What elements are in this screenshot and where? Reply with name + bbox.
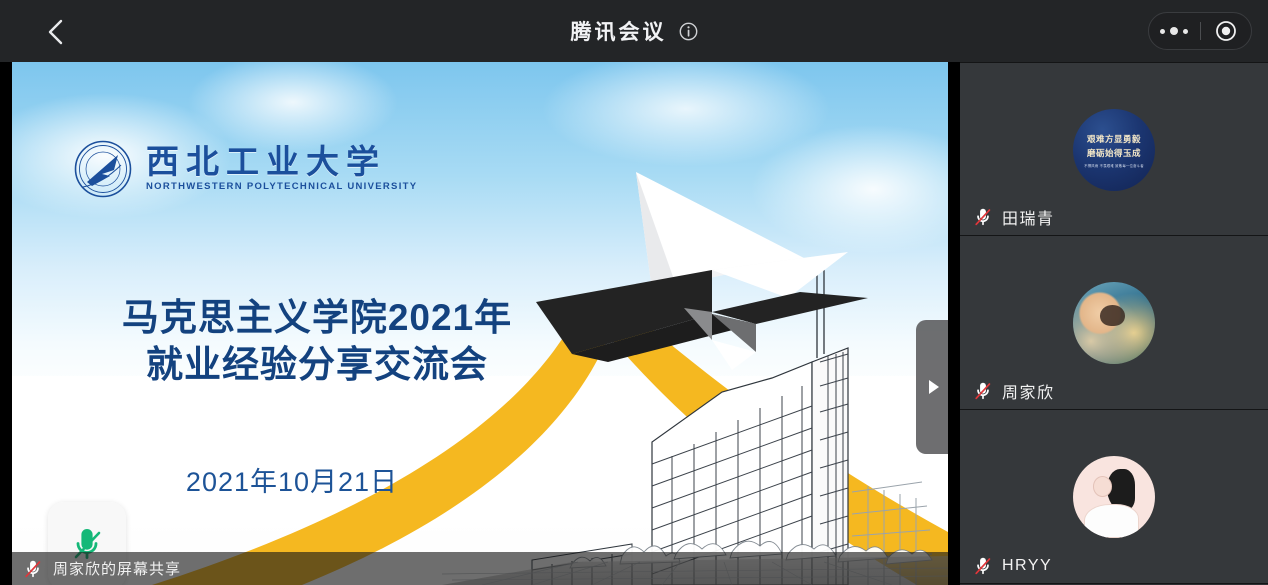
chevron-left-icon: [45, 17, 67, 47]
slide-title: 马克思主义学院2021年 就业经验分享交流会: [82, 294, 552, 389]
participant-footer: 周家欣: [960, 379, 1268, 403]
participant-tile[interactable]: HRYY: [960, 410, 1268, 584]
target-circle-icon: [1215, 20, 1237, 42]
participant-name: 田瑞青: [1002, 205, 1055, 229]
illustration-body: [1084, 504, 1138, 538]
illustration-head: [1093, 476, 1113, 497]
avatar-slogan-caption: 不惧风雨 不畏艰难 致敬每一位奋斗者: [1084, 163, 1144, 168]
presentation-slide: 西北工业大学 NORTHWESTERN POLYTECHNICAL UNIVER…: [12, 62, 948, 585]
participant-tile[interactable]: 艰难方显勇毅 磨砺始得玉成 不惧风雨 不畏艰难 致敬每一位奋斗者 田瑞青: [960, 62, 1268, 236]
participant-footer: 田瑞青: [960, 205, 1268, 229]
shared-screen-stage[interactable]: 西北工业大学 NORTHWESTERN POLYTECHNICAL UNIVER…: [0, 62, 960, 585]
screen-share-status-bar: 周家欣的屏幕共享: [12, 552, 948, 585]
avatar: [1073, 456, 1155, 538]
participant-rail[interactable]: 艰难方显勇毅 磨砺始得玉成 不惧风雨 不畏艰难 致敬每一位奋斗者 田瑞青: [960, 62, 1268, 585]
more-menu-button[interactable]: [1149, 27, 1200, 35]
avatar-slogan-badge: 艰难方显勇毅 磨砺始得玉成 不惧风雨 不畏艰难 致敬每一位奋斗者: [1073, 109, 1155, 191]
expand-panel-handle[interactable]: [916, 320, 948, 454]
university-name-en: NORTHWESTERN POLYTECHNICAL UNIVERSITY: [146, 181, 417, 192]
miniprogram-capsule: [1148, 12, 1252, 50]
slide-title-line2: 就业经验分享交流会: [82, 341, 552, 388]
avatar-illustration-person: [1073, 456, 1155, 538]
slide-date: 2021年10月21日: [82, 460, 502, 499]
university-logo-text: 西北工业大学 NORTHWESTERN POLYTECHNICAL UNIVER…: [146, 146, 417, 193]
mic-muted-icon: [972, 555, 994, 577]
info-circle-icon[interactable]: [679, 22, 698, 41]
university-name-cn: 西北工业大学: [146, 146, 417, 181]
avatar: 艰难方显勇毅 磨砺始得玉成 不惧风雨 不畏艰难 致敬每一位奋斗者: [1073, 109, 1155, 191]
participant-footer: HRYY: [960, 555, 1268, 577]
screen-share-label: 周家欣的屏幕共享: [53, 558, 181, 579]
more-dots-icon: [1160, 27, 1188, 35]
page-title: 腾讯会议: [571, 16, 667, 46]
university-seal-icon: [74, 140, 132, 198]
mic-muted-icon: [972, 380, 994, 402]
top-navigation-bar: 腾讯会议: [0, 0, 1268, 62]
nav-title-group: 腾讯会议: [0, 0, 1268, 62]
mic-muted-icon: [972, 206, 994, 228]
avatar-photo-child: [1073, 282, 1155, 364]
university-logo: 西北工业大学 NORTHWESTERN POLYTECHNICAL UNIVER…: [74, 140, 417, 198]
participant-tile[interactable]: 周家欣: [960, 236, 1268, 410]
triangle-right-icon: [929, 380, 939, 394]
avatar-slogan-line1: 艰难方显勇毅: [1087, 133, 1141, 145]
avatar-slogan-line2: 磨砺始得玉成: [1087, 147, 1141, 159]
participant-name: 周家欣: [1002, 379, 1055, 403]
avatar: [1073, 282, 1155, 364]
participant-name: HRYY: [1002, 557, 1052, 575]
slide-title-line1: 马克思主义学院2021年: [122, 297, 512, 338]
back-button[interactable]: [38, 14, 74, 50]
mic-muted-icon: [22, 558, 44, 580]
close-miniprogram-button[interactable]: [1201, 20, 1252, 42]
